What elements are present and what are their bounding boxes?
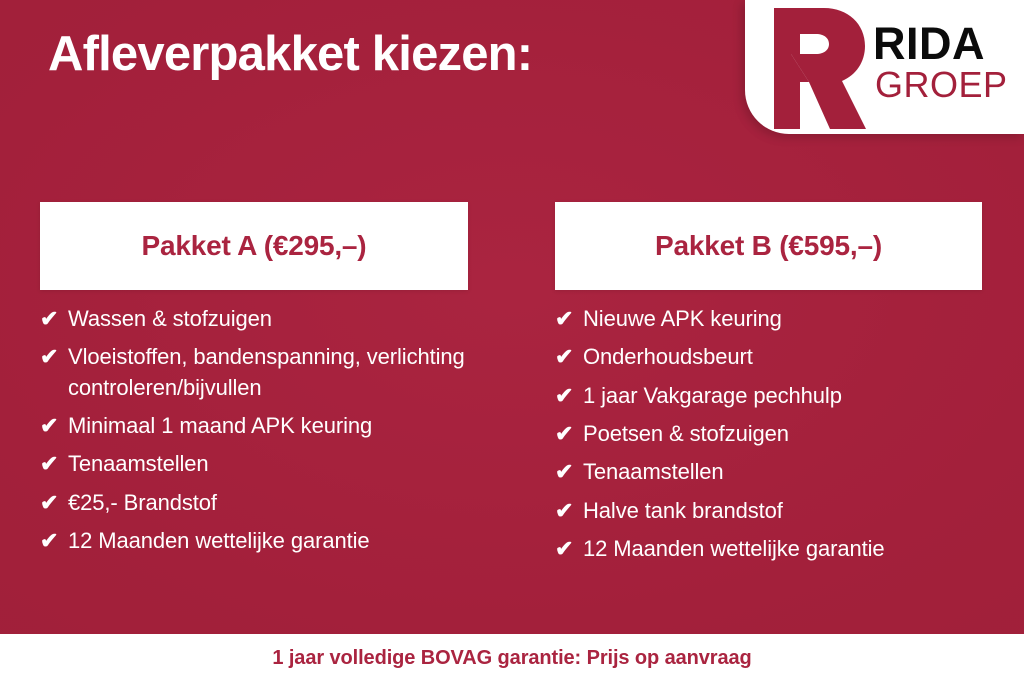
footer-text: 1 jaar volledige BOVAG garantie: Prijs o… bbox=[272, 647, 751, 670]
package-b-feature-list: ✔ Nieuwe APK keuring ✔ Onderhoudsbeurt ✔… bbox=[555, 290, 982, 565]
brand-logo-panel: RIDA GROEP bbox=[745, 0, 1024, 134]
list-item: ✔ €25,- Brandstof bbox=[40, 488, 468, 518]
check-icon: ✔ bbox=[40, 304, 68, 334]
list-item-label: Poetsen & stofzuigen bbox=[583, 419, 982, 449]
list-item-label: Nieuwe APK keuring bbox=[583, 304, 982, 334]
list-item-label: 12 Maanden wettelijke garantie bbox=[583, 534, 982, 564]
list-item: ✔ Minimaal 1 maand APK keuring bbox=[40, 411, 468, 441]
list-item-label: Vloeistoffen, bandenspanning, verlichtin… bbox=[68, 342, 468, 403]
list-item: ✔ Poetsen & stofzuigen bbox=[555, 419, 982, 449]
check-icon: ✔ bbox=[555, 381, 583, 411]
check-icon: ✔ bbox=[555, 534, 583, 564]
list-item-label: 1 jaar Vakgarage pechhulp bbox=[583, 381, 982, 411]
afleverpakket-poster: Afleverpakket kiezen: RIDA GROEP Pakket … bbox=[0, 0, 1024, 682]
list-item: ✔ Wassen & stofzuigen bbox=[40, 304, 468, 334]
package-b-header[interactable]: Pakket B (€595,–) bbox=[555, 202, 982, 290]
check-icon: ✔ bbox=[40, 449, 68, 479]
brand-suffix: GROEP bbox=[875, 67, 1023, 103]
list-item: ✔ 12 Maanden wettelijke garantie bbox=[555, 534, 982, 564]
check-icon: ✔ bbox=[40, 342, 68, 372]
check-icon: ✔ bbox=[40, 526, 68, 556]
check-icon: ✔ bbox=[555, 496, 583, 526]
brand-name: RIDA bbox=[873, 22, 1023, 65]
package-column-a: Pakket A (€295,–) ✔ Wassen & stofzuigen … bbox=[40, 202, 468, 565]
list-item-label: Tenaamstellen bbox=[68, 449, 468, 479]
package-column-b: Pakket B (€595,–) ✔ Nieuwe APK keuring ✔… bbox=[555, 202, 982, 573]
list-item: ✔ Nieuwe APK keuring bbox=[555, 304, 982, 334]
page-title: Afleverpakket kiezen: bbox=[48, 28, 532, 82]
check-icon: ✔ bbox=[555, 457, 583, 487]
footer-banner: 1 jaar volledige BOVAG garantie: Prijs o… bbox=[0, 634, 1024, 682]
list-item-label: 12 Maanden wettelijke garantie bbox=[68, 526, 468, 556]
list-item: ✔ Tenaamstellen bbox=[40, 449, 468, 479]
list-item-label: Minimaal 1 maand APK keuring bbox=[68, 411, 468, 441]
list-item: ✔ Tenaamstellen bbox=[555, 457, 982, 487]
list-item: ✔ 12 Maanden wettelijke garantie bbox=[40, 526, 468, 556]
list-item: ✔ 1 jaar Vakgarage pechhulp bbox=[555, 381, 982, 411]
list-item-label: Wassen & stofzuigen bbox=[68, 304, 468, 334]
check-icon: ✔ bbox=[40, 411, 68, 441]
package-a-header[interactable]: Pakket A (€295,–) bbox=[40, 202, 468, 290]
list-item: ✔ Onderhoudsbeurt bbox=[555, 342, 982, 372]
package-a-feature-list: ✔ Wassen & stofzuigen ✔ Vloeistoffen, ba… bbox=[40, 290, 468, 557]
check-icon: ✔ bbox=[555, 342, 583, 372]
list-item-label: Tenaamstellen bbox=[583, 457, 982, 487]
list-item: ✔ Halve tank brandstof bbox=[555, 496, 982, 526]
list-item-label: €25,- Brandstof bbox=[68, 488, 468, 518]
list-item: ✔ Vloeistoffen, bandenspanning, verlicht… bbox=[40, 342, 468, 403]
check-icon: ✔ bbox=[555, 304, 583, 334]
list-item-label: Halve tank brandstof bbox=[583, 496, 982, 526]
check-icon: ✔ bbox=[555, 419, 583, 449]
package-b-title: Pakket B (€595,–) bbox=[655, 230, 882, 262]
brand-wordmark: RIDA GROEP bbox=[873, 22, 1023, 103]
rida-r-monogram-icon bbox=[762, 6, 868, 131]
list-item-label: Onderhoudsbeurt bbox=[583, 342, 982, 372]
check-icon: ✔ bbox=[40, 488, 68, 518]
package-a-title: Pakket A (€295,–) bbox=[142, 230, 367, 262]
